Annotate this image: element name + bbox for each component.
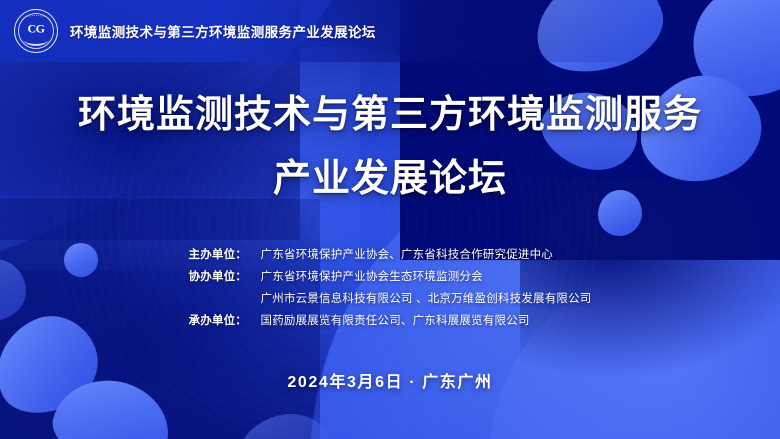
conference-emblem-icon: CG [14, 9, 58, 53]
header-title: 环境监测技术与第三方环境监测服务产业发展论坛 [70, 21, 376, 41]
organizer-row: 广州市云景信息科技有限公司 、北京万维盈创科技发展有限公司 [189, 288, 592, 310]
conference-banner: CG 环境监测技术与第三方环境监测服务产业发展论坛 环境监测技术与第三方环境监测… [0, 0, 780, 439]
organizer-value: 广东省环境保护产业协会生态环境监测分会 [261, 266, 483, 288]
organizer-row: 主办单位： 广东省环境保护产业协会、广东省科技合作研究促进中心 [189, 244, 592, 266]
page-title-line-2: 产业发展论坛 [78, 160, 702, 198]
page-title-line-1: 环境监测技术与第三方环境监测服务 [78, 96, 702, 134]
header-bar: CG 环境监测技术与第三方环境监测服务产业发展论坛 [0, 0, 780, 62]
organizer-row: 承办单位： 国药励展展览有限责任公司、广东科展展览有限公司 [189, 310, 592, 332]
date-location: 2024年3月6日 · 广东广州 [287, 368, 492, 392]
organizer-label: 承办单位： [189, 310, 261, 332]
organizer-value: 广州市云景信息科技有限公司 、北京万维盈创科技发展有限公司 [261, 288, 592, 310]
organizer-label: 协办单位： [189, 266, 261, 288]
organizer-value: 广东省环境保护产业协会、广东省科技合作研究促进中心 [261, 244, 554, 266]
organizer-list: 主办单位： 广东省环境保护产业协会、广东省科技合作研究促进中心 协办单位： 广东… [189, 244, 592, 332]
main-content: 环境监测技术与第三方环境监测服务 产业发展论坛 主办单位： 广东省环境保护产业协… [0, 0, 780, 439]
organizer-row: 协办单位： 广东省环境保护产业协会生态环境监测分会 [189, 266, 592, 288]
emblem-wave-icon-secondary [26, 38, 46, 46]
organizer-value: 国药励展展览有限责任公司、广东科展展览有限公司 [261, 310, 530, 332]
organizer-label: 主办单位： [189, 244, 261, 266]
